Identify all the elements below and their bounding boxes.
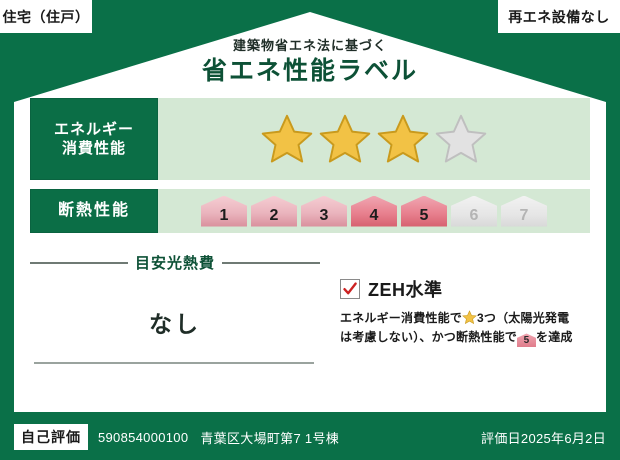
utility-cost-title: 目安光熱費 <box>135 252 215 273</box>
utility-cost-value: なし <box>30 305 320 339</box>
insulation-grade-badge: 7 <box>501 196 547 227</box>
row-insulation-performance: 断熱性能 1234567 <box>30 189 590 233</box>
zeh-heading: ZEH水準 <box>340 276 590 302</box>
tag-building-type-label: 住宅（住戸） <box>3 7 90 27</box>
utility-cost-panel: 目安光熱費 なし <box>30 250 320 400</box>
insulation-grade-scale: 1234567 <box>158 189 590 233</box>
zeh-checkbox[interactable] <box>340 279 360 299</box>
insulation-grade-badge: 6 <box>451 196 497 227</box>
star-icon-filled <box>377 113 429 165</box>
tag-renewable-equipment-label: 再エネ設備なし <box>508 7 610 27</box>
tag-renewable-equipment: 再エネ設備なし <box>498 0 620 33</box>
star-icon-inline <box>462 310 477 325</box>
utility-cost-divider <box>34 362 314 364</box>
insulation-grade-badge: 4 <box>351 196 397 227</box>
row-energy-consumption: エネルギー 消費性能 <box>30 98 590 180</box>
zeh-desc-part2: は考慮しない）、かつ断熱性能で <box>340 330 517 344</box>
performance-rows: エネルギー 消費性能 断熱性能 1234567 <box>30 98 590 242</box>
heading-rule-left <box>30 262 128 264</box>
insulation-grade-badge: 1 <box>201 196 247 227</box>
title-block: 建築物省エネ法に基づく 省エネ性能ラベル <box>0 38 620 87</box>
footer-evaluation-date: 評価日2025年6月2日 <box>481 428 606 447</box>
insulation-grade-badge: 5 <box>401 196 447 227</box>
zeh-desc-part3: を達成 <box>536 330 573 344</box>
row-energy-consumption-label: エネルギー 消費性能 <box>30 98 158 180</box>
footer-id: 590854000100 <box>98 430 188 445</box>
check-icon <box>342 281 358 297</box>
lower-section: 目安光熱費 なし ZEH水準 エネルギー消費性能で3つ（太陽光発電は考慮しない）… <box>30 250 590 400</box>
row-energy-label-line1: エネルギー <box>54 120 134 139</box>
star-icon-filled <box>261 113 313 165</box>
utility-cost-heading: 目安光熱費 <box>30 252 320 273</box>
zeh-description: エネルギー消費性能で3つ（太陽光発電は考慮しない）、かつ断熱性能で5を達成 <box>340 309 590 348</box>
zeh-title: ZEH水準 <box>368 276 443 302</box>
tag-building-type: 住宅（住戸） <box>0 0 92 33</box>
heading-rule-right <box>222 262 320 264</box>
star-rating <box>158 98 590 180</box>
zeh-desc-part1: エネルギー消費性能で <box>340 311 462 325</box>
insulation-grade-badge: 2 <box>251 196 297 227</box>
grade-badge-inline: 5 <box>517 333 536 347</box>
energy-performance-label: 住宅（住戸） 再エネ設備なし 建築物省エネ法に基づく 省エネ性能ラベル エネルギ… <box>0 0 620 460</box>
insulation-grade-badge: 3 <box>301 196 347 227</box>
zeh-panel: ZEH水準 エネルギー消費性能で3つ（太陽光発電は考慮しない）、かつ断熱性能で5… <box>320 250 590 400</box>
footer-bar: 自己評価 590854000100 青葉区大場町第7 1号棟 評価日2025年6… <box>0 414 620 460</box>
row-insulation-label: 断熱性能 <box>30 189 158 233</box>
star-icon-filled <box>319 113 371 165</box>
row-insulation-label-text: 断熱性能 <box>58 201 130 221</box>
row-energy-label-line2: 消費性能 <box>62 139 126 158</box>
page-title: 省エネ性能ラベル <box>0 56 620 87</box>
star-icon-empty <box>435 113 487 165</box>
evaluation-type-badge: 自己評価 <box>14 424 88 450</box>
footer-address: 青葉区大場町第7 1号棟 <box>200 428 339 447</box>
zeh-desc-star-count: 3つ（太陽光発電 <box>477 311 569 325</box>
label-subtitle: 建築物省エネ法に基づく <box>0 38 620 54</box>
